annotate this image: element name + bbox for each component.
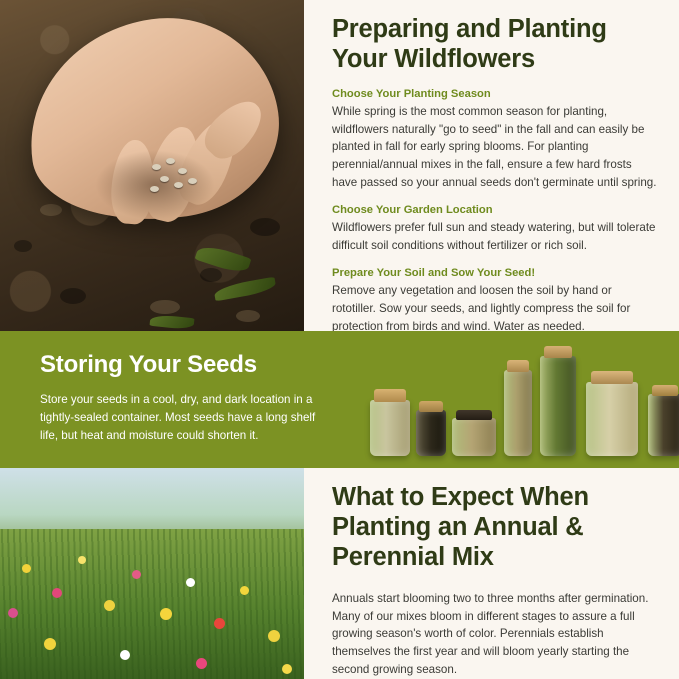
subheading-garden-location: Choose Your Garden Location bbox=[332, 204, 657, 216]
jar-5 bbox=[540, 356, 576, 456]
flower bbox=[22, 564, 31, 573]
flower bbox=[240, 586, 249, 595]
soil-clod bbox=[250, 218, 280, 236]
jar-3-cork bbox=[456, 410, 492, 420]
jar-2 bbox=[416, 410, 446, 456]
jar-7 bbox=[648, 394, 679, 456]
jar-2-cork bbox=[419, 401, 443, 412]
soil-highlight bbox=[40, 204, 62, 216]
flower bbox=[104, 600, 115, 611]
jar-7-cork bbox=[652, 385, 678, 396]
flower bbox=[214, 618, 225, 629]
section1-text-column: Preparing and Planting Your Wildflowers … bbox=[304, 0, 679, 331]
jar-4-cork bbox=[507, 360, 529, 372]
jar-5-cork bbox=[544, 346, 572, 358]
flower bbox=[160, 608, 172, 620]
flower bbox=[120, 650, 130, 660]
jar-6 bbox=[586, 382, 638, 456]
subheading-planting-season: Choose Your Planting Season bbox=[332, 88, 657, 100]
flower bbox=[282, 664, 292, 674]
subheading-prepare-soil: Prepare Your Soil and Sow Your Seed! bbox=[332, 267, 657, 279]
flower bbox=[186, 578, 195, 587]
wildflower-meadow-photo bbox=[0, 468, 304, 679]
section2-text-column: Storing Your Seeds Store your seeds in a… bbox=[0, 331, 352, 468]
jar-4 bbox=[504, 370, 532, 456]
seed-jars-photo bbox=[352, 331, 679, 468]
meadow-grass bbox=[0, 529, 304, 679]
flower bbox=[268, 630, 280, 642]
paragraph-prepare-soil: Remove any vegetation and loosen the soi… bbox=[332, 282, 657, 335]
hand-sowing-seeds-photo bbox=[0, 0, 304, 331]
soil-highlight bbox=[236, 310, 260, 322]
section3-title: What to Expect When Planting an Annual &… bbox=[332, 482, 657, 572]
flower bbox=[52, 588, 62, 598]
infographic-page: Preparing and Planting Your Wildflowers … bbox=[0, 0, 679, 679]
flower bbox=[132, 570, 141, 579]
soil-clod bbox=[60, 288, 86, 304]
flower bbox=[78, 556, 86, 564]
jar-6-cork bbox=[591, 371, 633, 384]
section-preparing-and-planting: Preparing and Planting Your Wildflowers … bbox=[0, 0, 679, 331]
flower bbox=[8, 608, 18, 618]
section-what-to-expect: What to Expect When Planting an Annual &… bbox=[0, 468, 679, 679]
paragraph-garden-location: Wildflowers prefer full sun and steady w… bbox=[332, 219, 657, 254]
section2-title: Storing Your Seeds bbox=[40, 351, 332, 379]
jar-1 bbox=[370, 400, 410, 456]
section3-text-column: What to Expect When Planting an Annual &… bbox=[304, 468, 679, 679]
paragraph-planting-season: While spring is the most common season f… bbox=[332, 103, 657, 191]
jar-1-cork bbox=[374, 389, 406, 402]
flower bbox=[196, 658, 207, 669]
soil-clod bbox=[200, 268, 222, 282]
soil-clod bbox=[14, 240, 32, 252]
jar-3 bbox=[452, 418, 496, 456]
section3-paragraph: Annuals start blooming two to three mont… bbox=[332, 590, 657, 678]
section1-title: Preparing and Planting Your Wildflowers bbox=[332, 14, 657, 74]
section-storing-your-seeds: Storing Your Seeds Store your seeds in a… bbox=[0, 331, 679, 468]
section2-paragraph: Store your seeds in a cool, dry, and dar… bbox=[40, 391, 332, 445]
flower bbox=[44, 638, 56, 650]
seed-cluster bbox=[148, 158, 218, 200]
soil-highlight bbox=[150, 300, 180, 314]
